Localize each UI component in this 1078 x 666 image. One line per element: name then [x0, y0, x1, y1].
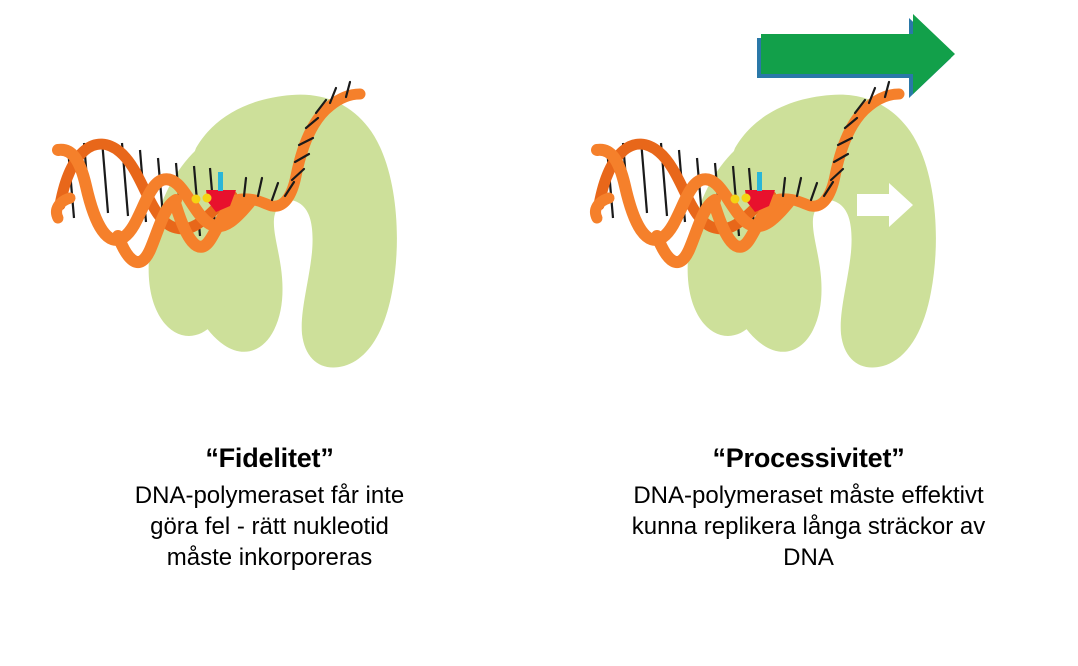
dna-left-hook [57, 198, 71, 218]
figure-processivity [539, 0, 1078, 430]
caption-title-fidelity: “Fidelitet” [0, 440, 539, 476]
figure-fidelity [0, 0, 539, 430]
green-arrow [761, 14, 955, 94]
panel-fidelity: “Fidelitet” DNA-polymeraset får inte gör… [0, 0, 539, 666]
nucleotide-cyan-bar [757, 172, 762, 191]
slide-canvas: “Fidelitet” DNA-polymeraset får inte gör… [0, 0, 1078, 666]
caption-line: DNA-polymeraset måste effektivt [589, 480, 1029, 511]
caption-body-fidelity: DNA-polymeraset får inte göra fel - rätt… [50, 480, 490, 573]
dna-left-hook [596, 198, 610, 218]
nucleotide-yellow-dot-2 [742, 194, 751, 203]
caption-fidelity: “Fidelitet” DNA-polymeraset får inte gör… [0, 440, 539, 573]
caption-line: göra fel - rätt nukleotid [50, 511, 490, 542]
caption-line: måste inkorporeras [50, 542, 490, 573]
nucleotide-yellow-dot-1 [192, 195, 201, 204]
nucleotide-cyan-bar [218, 172, 223, 191]
caption-processivity: “Processivitet” DNA-polymeraset måste ef… [539, 440, 1078, 573]
caption-body-processivity: DNA-polymeraset måste effektivt kunna re… [589, 480, 1029, 573]
nucleotide-yellow-dot-2 [203, 194, 212, 203]
caption-line: kunna replikera långa sträckor av [589, 511, 1029, 542]
caption-line: DNA-polymeraset får inte [50, 480, 490, 511]
nucleotide-yellow-dot-1 [731, 195, 740, 204]
caption-title-processivity: “Processivitet” [539, 440, 1078, 476]
green-direction-arrow-group [757, 14, 955, 98]
panel-processivity: “Processivitet” DNA-polymeraset måste ef… [539, 0, 1078, 666]
caption-line: DNA [589, 542, 1029, 573]
